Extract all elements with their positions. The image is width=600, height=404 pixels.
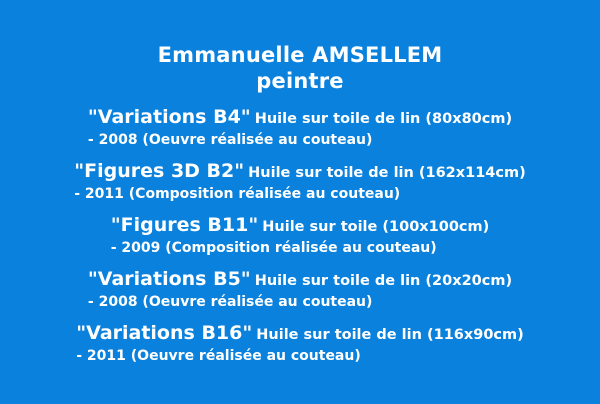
artwork-list: "Variations B4"Huile sur toile de lin (8… — [0, 106, 600, 376]
list-item: "Figures 3D B2"Huile sur toile de lin (1… — [0, 160, 600, 204]
artwork-details: - 2008 (Oeuvre réalisée au couteau) — [88, 293, 512, 312]
artwork-primary-line: "Figures 3D B2"Huile sur toile de lin (1… — [74, 160, 525, 185]
artwork-entry-3: "Figures B11"Huile sur toile (100x100cm)… — [111, 214, 490, 258]
artwork-primary-line: "Variations B4"Huile sur toile de lin (8… — [88, 106, 512, 131]
list-item: "Figures B11"Huile sur toile (100x100cm)… — [0, 214, 600, 258]
artwork-title: "Variations B16" — [76, 322, 252, 344]
list-item: "Variations B5"Huile sur toile de lin (2… — [0, 268, 600, 312]
artwork-primary-line: "Variations B5"Huile sur toile de lin (2… — [88, 268, 512, 293]
artist-name: Emmanuelle AMSELLEM — [0, 42, 600, 68]
artwork-entry-4: "Variations B5"Huile sur toile de lin (2… — [88, 268, 512, 312]
artwork-entry-1: "Variations B4"Huile sur toile de lin (8… — [88, 106, 512, 150]
list-item: "Variations B4"Huile sur toile de lin (8… — [0, 106, 600, 150]
artwork-details: - 2009 (Composition réalisée au couteau) — [111, 239, 490, 258]
artwork-entry-2: "Figures 3D B2"Huile sur toile de lin (1… — [74, 160, 525, 204]
artwork-medium: Huile sur toile de lin (162x114cm) — [248, 165, 526, 181]
artwork-title: "Figures 3D B2" — [74, 160, 244, 182]
artwork-details: - 2008 (Oeuvre réalisée au couteau) — [88, 131, 512, 150]
page-title: Emmanuelle AMSELLEM peintre — [0, 42, 600, 94]
artist-role: peintre — [0, 68, 600, 94]
artwork-primary-line: "Figures B11"Huile sur toile (100x100cm) — [111, 214, 490, 239]
artwork-details: - 2011 (Oeuvre réalisée au couteau) — [76, 347, 524, 366]
artwork-title: "Variations B4" — [88, 106, 251, 128]
artwork-title: "Variations B5" — [88, 268, 251, 290]
artwork-medium: Huile sur toile de lin (80x80cm) — [255, 111, 512, 127]
artwork-title: "Figures B11" — [111, 214, 259, 236]
artwork-medium: Huile sur toile de lin (116x90cm) — [256, 327, 523, 343]
slide-canvas: Emmanuelle AMSELLEM peintre "Variations … — [0, 0, 600, 404]
artwork-entry-5: "Variations B16"Huile sur toile de lin (… — [76, 322, 524, 366]
artwork-medium: Huile sur toile de lin (20x20cm) — [255, 273, 512, 289]
list-item: "Variations B16"Huile sur toile de lin (… — [0, 322, 600, 366]
artwork-medium: Huile sur toile (100x100cm) — [262, 219, 489, 235]
artwork-primary-line: "Variations B16"Huile sur toile de lin (… — [76, 322, 524, 347]
artwork-details: - 2011 (Composition réalisée au couteau) — [74, 185, 525, 204]
